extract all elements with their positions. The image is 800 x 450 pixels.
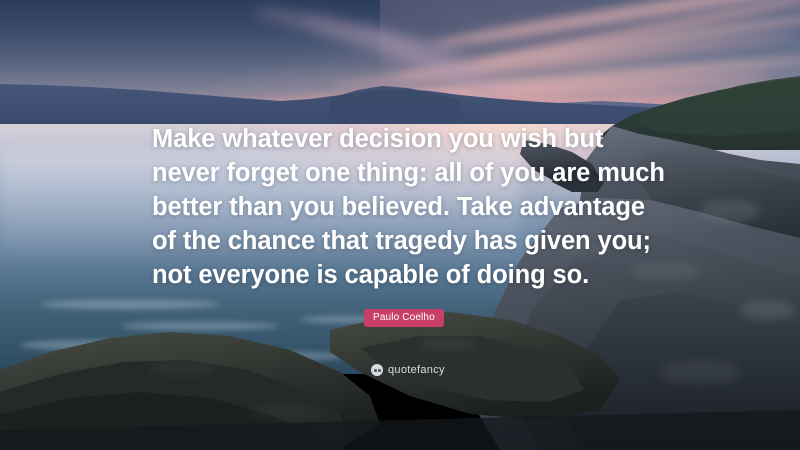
quote-line: better than you believed. Take advantage xyxy=(152,190,664,224)
quotefancy-watermark[interactable]: quotefancy xyxy=(371,364,445,376)
quote-line: of the chance that tragedy has given you… xyxy=(152,224,664,258)
author-badge[interactable]: Paulo Coelho xyxy=(364,309,444,327)
quote-line: not everyone is capable of doing so. xyxy=(152,258,664,292)
quote-line: Make whatever decision you wish but xyxy=(152,122,664,156)
quote-line: never forget one thing: all of you are m… xyxy=(152,156,664,190)
quote-text: Make whatever decision you wish but neve… xyxy=(152,122,664,292)
watermark-brand: quotefancy xyxy=(388,364,445,376)
quote-mark-icon xyxy=(371,364,383,376)
quote-poster: Make whatever decision you wish but neve… xyxy=(0,0,800,450)
